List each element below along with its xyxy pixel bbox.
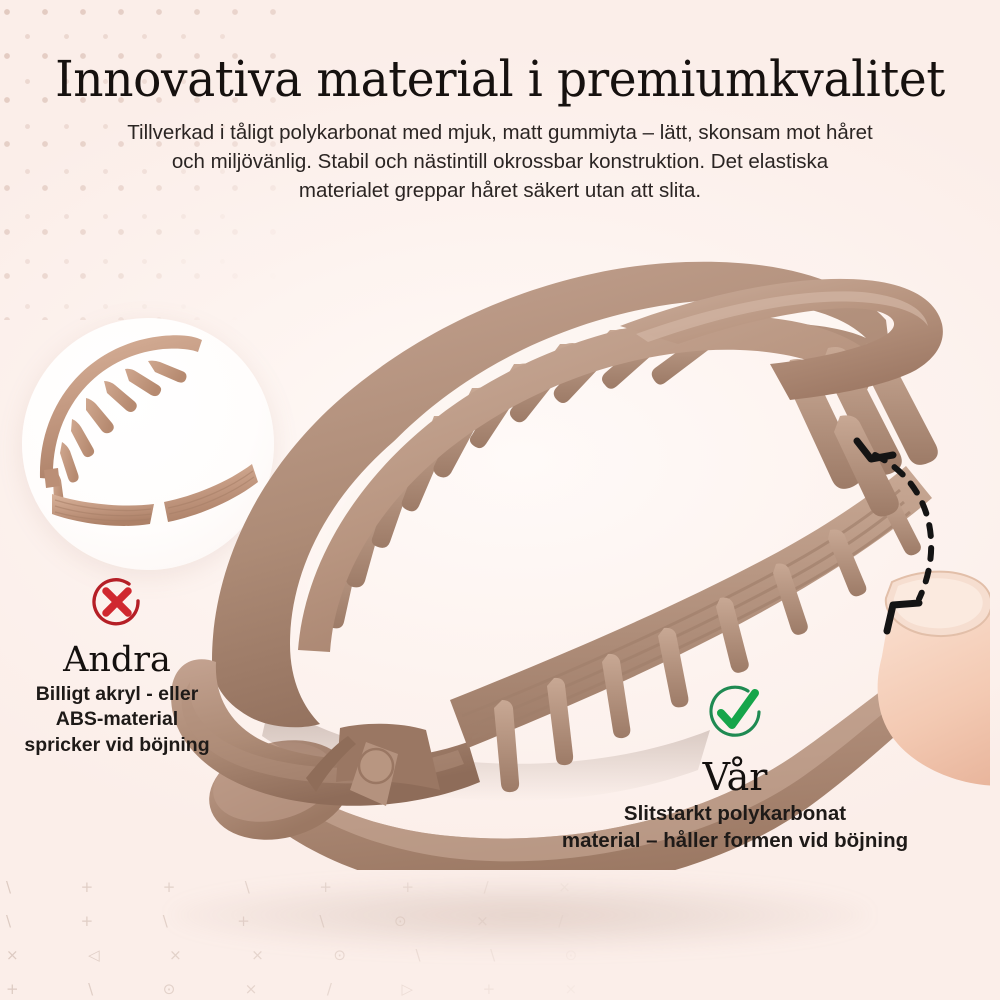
comparison-bad-desc: Billigt akryl - eller ABS-material spric…: [0, 682, 242, 758]
comparison-bad-desc-line-1: Billigt akryl - eller: [0, 682, 242, 707]
clip-top-cap: [620, 279, 943, 400]
decor-glyph-row-1: \ + + \ + + / × ▷ ▷: [6, 878, 753, 896]
comparison-bad: Andra Billigt akryl - eller ABS-material…: [0, 575, 242, 758]
clip-slats-upper: [326, 321, 740, 629]
product-floor-shadow: [170, 880, 870, 950]
subtitle-line-3: materialet greppar håret säkert utan att…: [30, 176, 970, 205]
comparison-good-desc-line-1: Slitstarkt polykarbonat: [520, 800, 950, 827]
circle-check-icon: [704, 682, 766, 744]
promo-image-canvas: Innovativa material i premiumkvalitet Ti…: [0, 0, 1000, 1000]
comparison-good-title: Vår: [520, 758, 950, 796]
inset-broken-bar-right: [164, 464, 258, 522]
comparison-bad-title: Andra: [0, 643, 242, 678]
subtitle-line-1: Tillverkad i tåligt polykarbonat med mju…: [30, 118, 970, 147]
comparison-good-desc: Slitstarkt polykarbonat material – hålle…: [520, 800, 950, 855]
comparison-bad-desc-line-2: ABS-material: [0, 707, 242, 732]
subtitle-line-2: och miljövänlig. Stabil och nästintill o…: [30, 147, 970, 176]
inset-broken-bar-left: [52, 494, 154, 526]
decor-glyph-field: \ + + \ + + / × ▷ ▷ \ + \ + \ ⊙ × / × ⊙ …: [0, 860, 640, 1000]
decor-glyph-row-2: \ + \ + \ ⊙ × / × ⊙: [6, 912, 747, 930]
inset-hinge: [44, 468, 60, 488]
broken-clip-inset: [22, 318, 274, 570]
clip-hinge: [306, 724, 440, 806]
circle-x-icon: [89, 575, 145, 631]
comparison-good: Vår Slitstarkt polykarbonat material – h…: [520, 682, 950, 855]
decor-glyph-row-3: × ◁ × × ⊙ \ \ ⊙ / /: [6, 946, 746, 964]
page-subtitle: Tillverkad i tåligt polykarbonat med mju…: [30, 118, 970, 205]
decor-glyph-row-4: + \ ⊙ × / ▷ + × \ ⊙: [6, 980, 754, 998]
curved-double-arrow-icon: [845, 425, 975, 650]
comparison-bad-desc-line-3: spricker vid böjning: [0, 733, 242, 758]
page-title: Innovativa material i premiumkvalitet: [30, 52, 970, 106]
header: Innovativa material i premiumkvalitet Ti…: [0, 0, 1000, 205]
comparison-good-desc-line-2: material – håller formen vid böjning: [520, 827, 950, 854]
